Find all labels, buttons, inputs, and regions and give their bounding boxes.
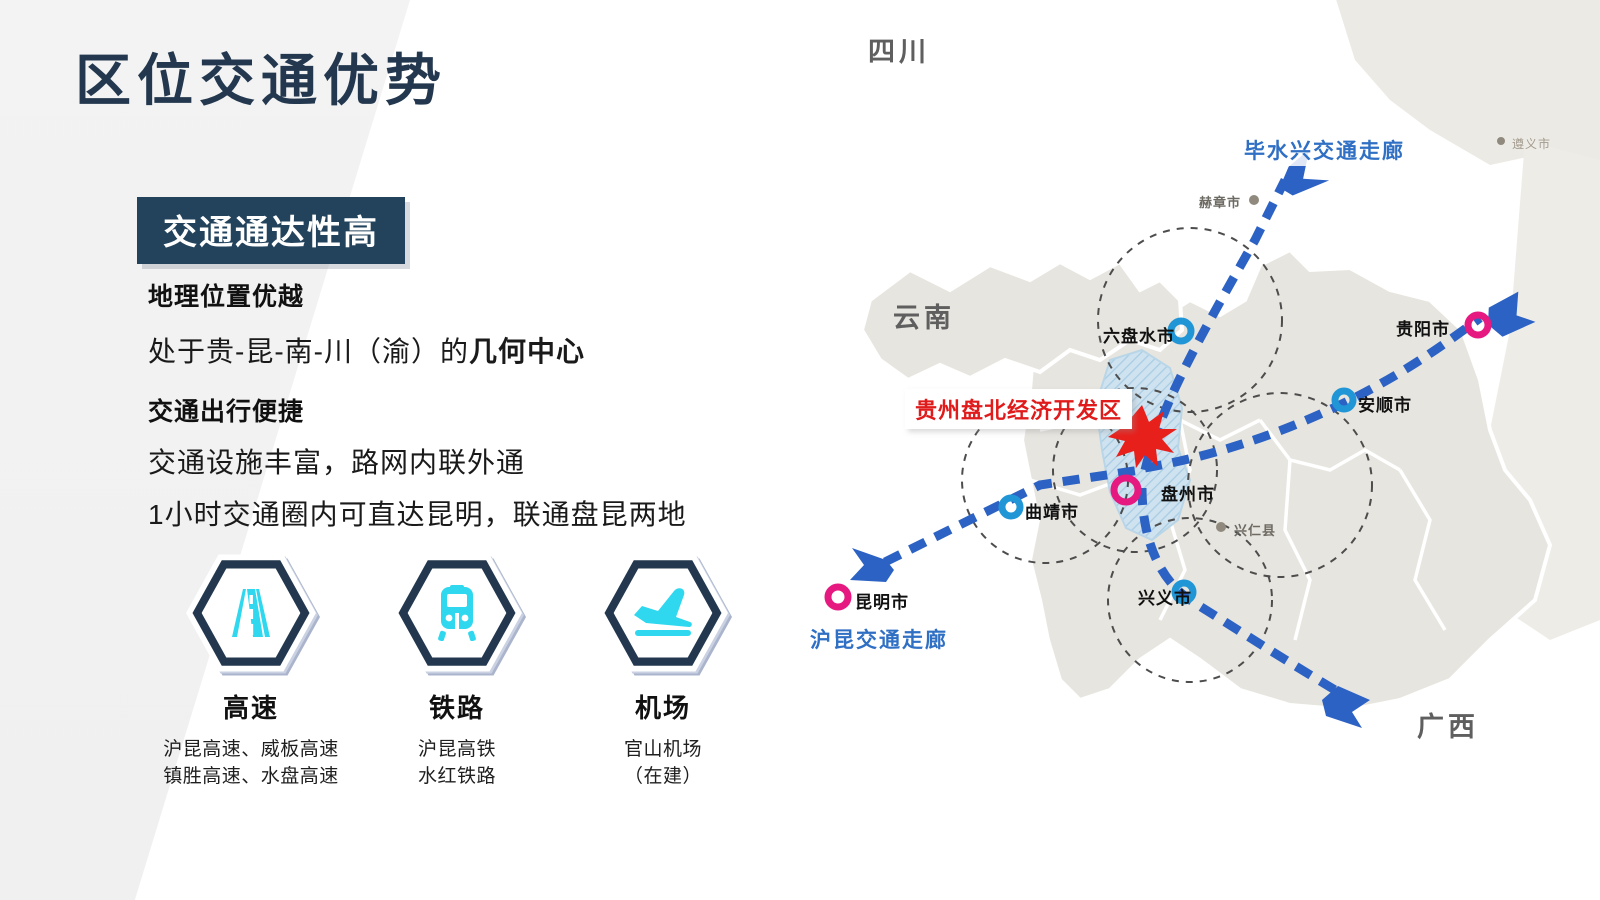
city-label-liupanshui: 六盘水市 <box>1103 322 1175 347</box>
province-label-sichuan: 四川 <box>868 30 930 69</box>
body-heading-2: 交通出行便捷 <box>148 392 304 428</box>
transport-icon-desc: 沪昆高铁 水红铁路 <box>354 737 560 791</box>
transport-icon-title: 高速 <box>148 688 354 725</box>
transport-icon-title: 铁路 <box>354 688 560 725</box>
marker-hezhang <box>1249 195 1259 205</box>
hexagon-frame <box>186 552 316 674</box>
marker-kunming <box>828 587 848 607</box>
marker-qujing <box>1002 498 1020 516</box>
region-map: 四川 云南 广西 毕水兴交通走廊 沪昆交通走廊 六盘水市 盘州市 贵阳市 安顺市… <box>790 0 1600 900</box>
hexagon-frame <box>598 552 728 674</box>
left-content-panel: 区位交通优势 交通通达性高 地理位置优越 处于贵-昆-南-川（渝）的几何中心 交… <box>0 0 800 900</box>
corridor-label-hukun: 沪昆交通走廊 <box>806 623 952 655</box>
arrowhead-kunming <box>850 548 894 582</box>
transport-icon-desc: 官山机场 （在建） <box>560 737 766 791</box>
transport-icon-airport[interactable]: 机场 官山机场 （在建） <box>560 552 766 791</box>
marker-zunyi <box>1497 137 1505 145</box>
marker-xingren <box>1216 522 1226 532</box>
transport-icon-title: 机场 <box>560 688 766 725</box>
city-label-zunyi: 遵义市 <box>1512 135 1551 152</box>
body-line-3: 1小时交通圈内可直达昆明，联通盘昆两地 <box>148 493 687 533</box>
body-line-1-prefix: 处于贵-昆-南-川（渝）的 <box>148 336 469 367</box>
body-line-1-emphasis: 几何中心 <box>469 336 585 367</box>
corridor-label-bishuixing: 毕水兴交通走廊 <box>1240 134 1409 166</box>
train-icon <box>392 552 522 674</box>
city-label-hezhang: 赫章市 <box>1199 192 1241 211</box>
body-line-2: 交通设施丰富，路网内联外通 <box>148 441 525 481</box>
section-banner: 交通通达性高 <box>137 197 405 264</box>
development-zone-callout: 贵州盘北经济开发区 <box>905 389 1132 429</box>
city-label-panzhou: 盘州市 <box>1161 480 1215 505</box>
province-label-guangxi: 广西 <box>1417 705 1479 744</box>
city-label-xingren: 兴仁县 <box>1234 520 1276 539</box>
city-label-anshun: 安顺市 <box>1358 391 1412 416</box>
city-label-guiyang: 贵阳市 <box>1396 315 1450 340</box>
highway-icon <box>186 552 316 674</box>
hexagon-frame <box>392 552 522 674</box>
city-label-xingyi: 兴义市 <box>1138 584 1192 609</box>
body-line-1: 处于贵-昆-南-川（渝）的几何中心 <box>148 330 585 370</box>
airplane-icon <box>598 552 728 674</box>
transport-icon-desc: 沪昆高速、威板高速 镇胜高速、水盘高速 <box>148 737 354 791</box>
page-title: 区位交通优势 <box>75 50 447 112</box>
city-label-qujing: 曲靖市 <box>1025 498 1079 523</box>
province-label-yunnan: 云南 <box>893 296 955 335</box>
body-heading-1: 地理位置优越 <box>148 277 304 313</box>
transport-icon-railway[interactable]: 铁路 沪昆高铁 水红铁路 <box>354 552 560 791</box>
map-graphic <box>790 0 1600 900</box>
transport-icon-highway[interactable]: 高速 沪昆高速、威板高速 镇胜高速、水盘高速 <box>148 552 354 791</box>
city-label-kunming: 昆明市 <box>855 588 909 613</box>
transport-icon-row: 高速 沪昆高速、威板高速 镇胜高速、水盘高速 <box>148 552 768 791</box>
